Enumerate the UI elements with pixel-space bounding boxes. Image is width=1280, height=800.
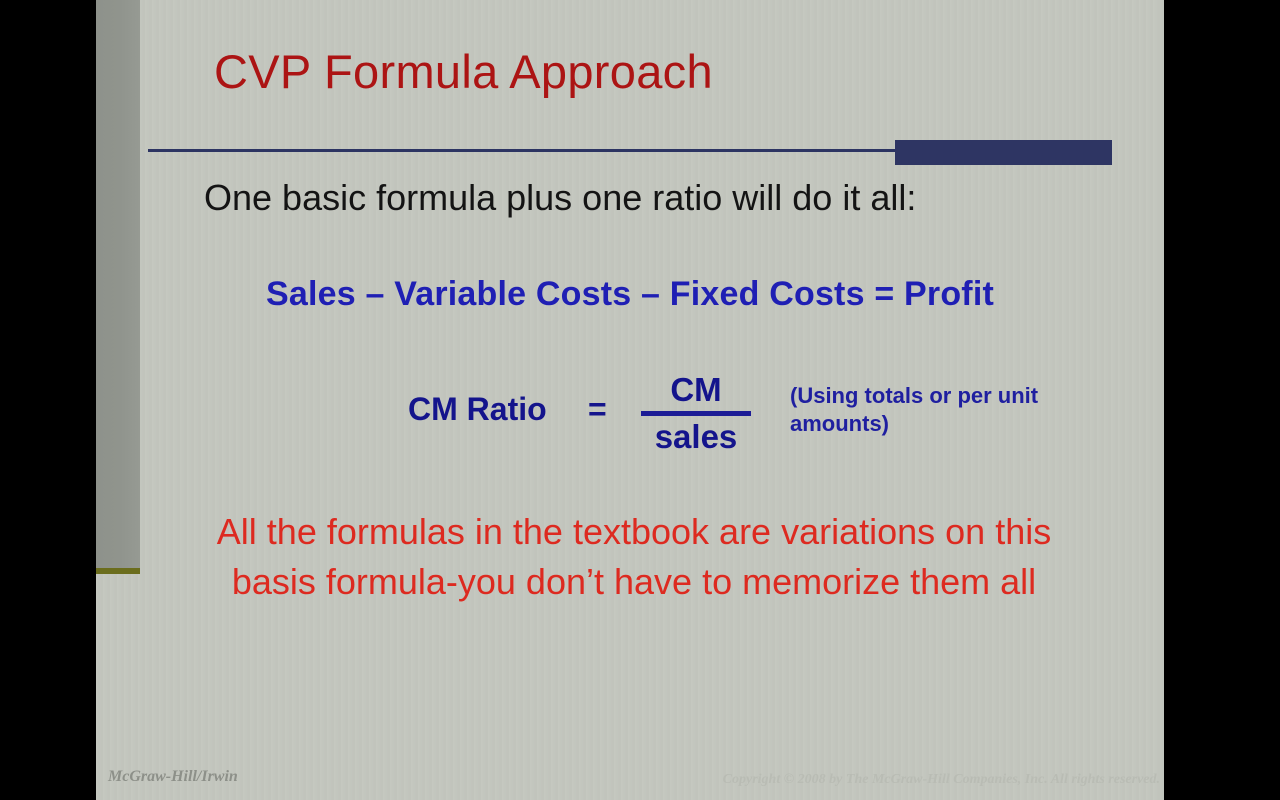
cm-ratio-equals-sign: = bbox=[588, 391, 607, 428]
cm-ratio-block: CM Ratio = CM sales (Using totals or per… bbox=[96, 368, 1164, 478]
cm-ratio-label: CM Ratio bbox=[408, 391, 547, 428]
lead-statement: One basic formula plus one ratio will do… bbox=[204, 177, 1084, 219]
title-accent-block bbox=[895, 140, 1112, 165]
closing-note: All the formulas in the textbook are var… bbox=[184, 507, 1084, 606]
cm-fraction-numerator: CM bbox=[641, 373, 751, 411]
slide-canvas: CVP Formula Approach One basic formula p… bbox=[96, 0, 1164, 800]
cm-fraction-denominator: sales bbox=[641, 420, 751, 453]
footer-publisher: McGraw-Hill/Irwin bbox=[108, 768, 238, 786]
cm-ratio-fraction: CM sales bbox=[641, 373, 751, 453]
main-formula: Sales – Variable Costs – Fixed Costs = P… bbox=[96, 275, 1164, 314]
letterbox-left bbox=[0, 0, 96, 800]
presentation-stage: CVP Formula Approach One basic formula p… bbox=[0, 0, 1280, 800]
cm-fraction-bar bbox=[641, 411, 751, 416]
cm-ratio-note: (Using totals or per unit amounts) bbox=[790, 382, 1060, 437]
footer-copyright: Copyright © 2008 by The McGraw-Hill Comp… bbox=[723, 772, 1160, 788]
page-title: CVP Formula Approach bbox=[214, 47, 1114, 96]
letterbox-right bbox=[1164, 0, 1280, 800]
decorative-band-cap bbox=[96, 568, 140, 574]
